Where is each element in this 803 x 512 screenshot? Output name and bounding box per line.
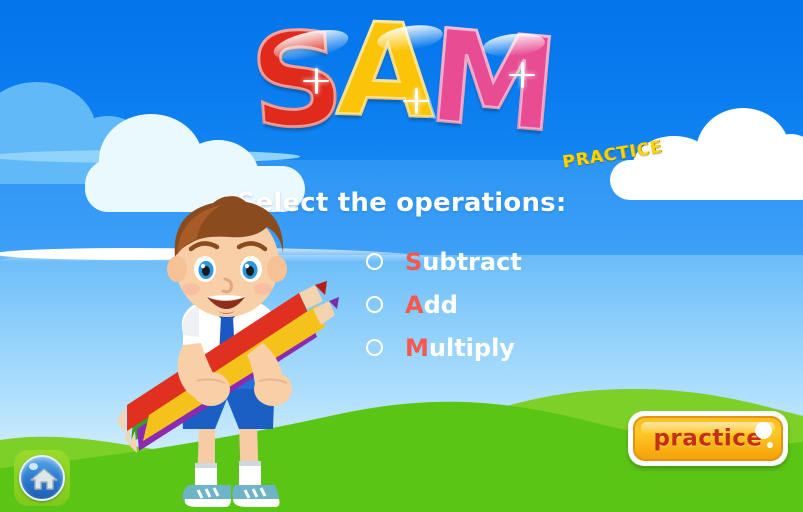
option-label-add: Add xyxy=(405,291,458,319)
home-icon xyxy=(30,467,58,491)
option-rest-add: dd xyxy=(424,291,458,319)
option-row-subtract[interactable]: Subtract xyxy=(366,240,666,283)
practice-button-highlight-large xyxy=(755,422,772,439)
practice-button-face: practice xyxy=(633,416,783,461)
logo-letter-m: M xyxy=(425,13,557,151)
practice-button[interactable]: practice xyxy=(628,411,788,466)
option-initial-subtract: S xyxy=(405,248,422,276)
operations-radio-group: Subtract Add Multiply xyxy=(366,240,666,369)
game-logo: SAM xyxy=(0,14,803,174)
schoolboy-character xyxy=(103,193,353,512)
option-initial-multiply: M xyxy=(405,334,429,362)
radio-subtract[interactable] xyxy=(366,253,383,270)
option-label-multiply: Multiply xyxy=(405,334,515,362)
home-button[interactable] xyxy=(14,450,70,506)
home-button-circle xyxy=(19,455,65,501)
option-label-subtract: Subtract xyxy=(405,248,522,276)
practice-button-highlight-small xyxy=(767,442,773,448)
logo-letter-s: S xyxy=(247,15,342,149)
logo-letters: SAM xyxy=(251,14,552,142)
option-rest-subtract: ubtract xyxy=(422,248,521,276)
option-rest-multiply: ultiply xyxy=(429,334,515,362)
option-row-add[interactable]: Add xyxy=(366,283,666,326)
game-screen: SAM PRACTICE Select the operations: Subt… xyxy=(0,0,803,512)
option-initial-add: A xyxy=(405,291,424,319)
logo-letter-a: A xyxy=(335,6,432,137)
radio-multiply[interactable] xyxy=(366,339,383,356)
option-row-multiply[interactable]: Multiply xyxy=(366,326,666,369)
radio-add[interactable] xyxy=(366,296,383,313)
